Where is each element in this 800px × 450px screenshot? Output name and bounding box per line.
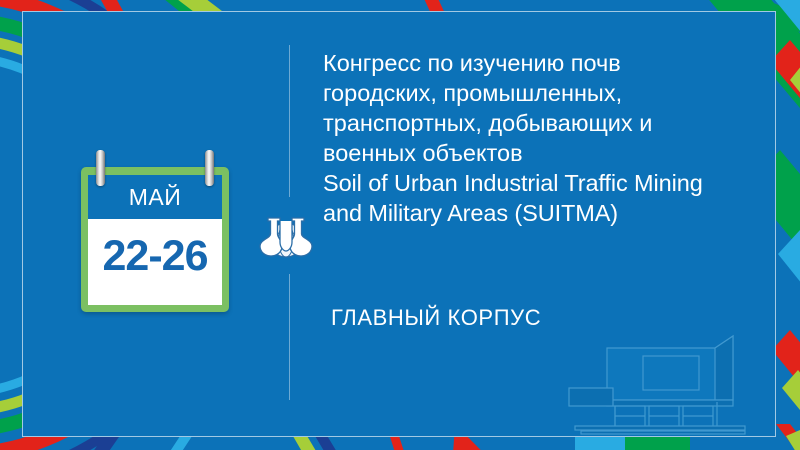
venue-label: ГЛАВНЫЙ КОРПУС (331, 305, 541, 331)
slide-frame: МАЙ 22-26 (22, 11, 776, 437)
calendar-ring-right (205, 150, 214, 186)
vertical-divider-top (289, 45, 290, 197)
congress-title-block: Конгресс по изучению почв городских, про… (323, 48, 800, 228)
title-line-ru-3: транспортных, добывающих и (323, 108, 800, 138)
presentation-slide: МАЙ 22-26 (0, 0, 800, 450)
rudn-university-emblem-icon (255, 204, 317, 266)
calendar-ring-left (96, 150, 105, 186)
main-building-line-art (565, 326, 775, 436)
title-line-ru-2: городских, промышленных, (323, 78, 800, 108)
title-line-en-2: and Military Areas (SUITMA) (323, 198, 800, 228)
title-line-ru-1: Конгресс по изучению почв (323, 48, 800, 78)
vertical-divider-bottom (289, 274, 290, 400)
calendar-month-label: МАЙ (88, 175, 222, 219)
calendar-days-label: 22-26 (88, 219, 222, 305)
calendar-icon: МАЙ 22-26 (81, 167, 229, 312)
calendar-body: МАЙ 22-26 (81, 167, 229, 312)
title-line-en-1: Soil of Urban Industrial Traffic Mining (323, 168, 800, 198)
title-line-ru-4: военных объектов (323, 138, 800, 168)
